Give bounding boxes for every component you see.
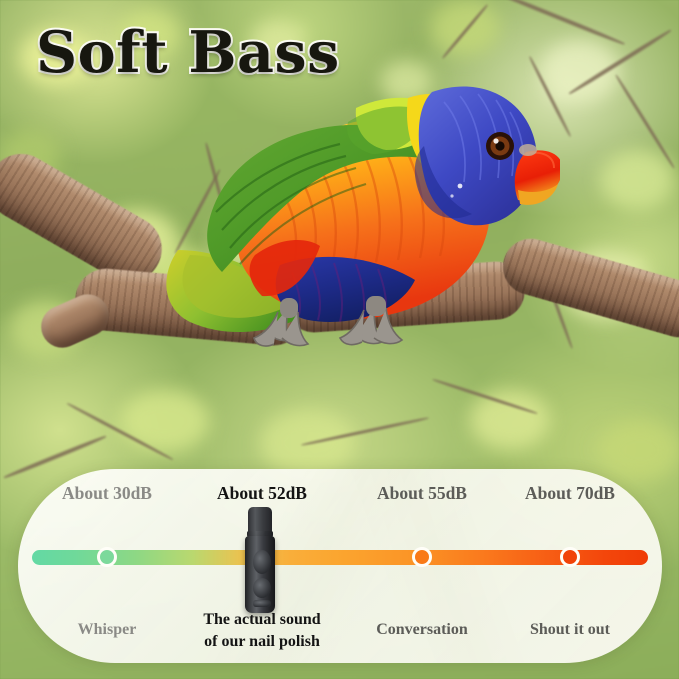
label-top-shout: About 70dB [470, 483, 670, 504]
slider-marker-conversation[interactable] [412, 547, 432, 567]
slider-marker-whisper[interactable] [97, 547, 117, 567]
product-infographic: Soft Bass About 30dB About 52dB About 55… [0, 0, 679, 679]
device-body [245, 536, 275, 613]
slider-marker-shout[interactable] [560, 547, 580, 567]
page-title: Soft Bass [36, 24, 340, 81]
nail-polish-pen-icon [243, 507, 277, 613]
decibel-slider-track[interactable] [32, 550, 648, 565]
label-bottom-shout: Shout it out [470, 619, 670, 641]
device-grip-lower [253, 578, 271, 598]
device-grip-upper [253, 550, 271, 574]
parrot-illustration [160, 50, 560, 350]
device-cap [248, 507, 272, 533]
device-button [253, 600, 271, 607]
rainbow-lorikeet [160, 50, 560, 350]
